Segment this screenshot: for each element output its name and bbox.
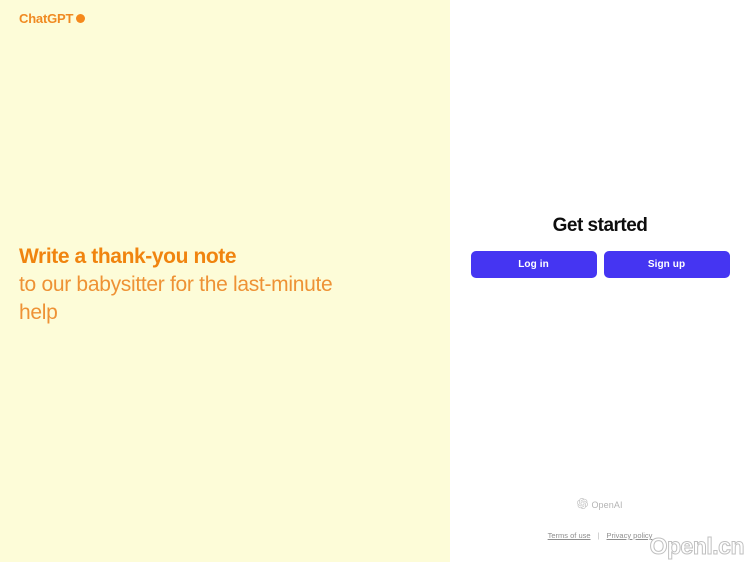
terms-of-use-link[interactable]: Terms of use: [548, 531, 591, 540]
auth-panel: Get started Log in Sign up OpenAI Terms …: [450, 0, 750, 562]
chatgpt-wordmark: ChatGPT: [19, 11, 73, 26]
promo-line-1: Write a thank-you note: [19, 243, 419, 271]
openai-wordmark: OpenAI: [591, 500, 622, 510]
filled-circle-icon: [76, 14, 85, 23]
promo-line-2: to our babysitter for the last-minute: [19, 271, 419, 299]
promo-line-3: help: [19, 299, 419, 327]
get-started-block: Get started Log in Sign up: [450, 215, 750, 278]
footer-separator: |: [598, 531, 600, 540]
login-button[interactable]: Log in: [471, 251, 597, 278]
promo-panel: ChatGPT Write a thank-you note to our ba…: [0, 0, 450, 562]
promo-text-block: Write a thank-you note to our babysitter…: [19, 243, 419, 327]
signup-button[interactable]: Sign up: [604, 251, 730, 278]
auth-button-group: Log in Sign up: [471, 251, 730, 278]
privacy-policy-link[interactable]: Privacy policy: [607, 531, 653, 540]
page-title: Get started: [553, 215, 648, 237]
chatgpt-brand-logo: ChatGPT: [19, 11, 85, 26]
openai-brand: OpenAI: [577, 496, 622, 514]
chatgpt-login-page: ChatGPT Write a thank-you note to our ba…: [0, 0, 750, 562]
footer-links: Terms of use | Privacy policy: [548, 531, 653, 540]
footer: OpenAI Terms of use | Privacy policy: [450, 496, 750, 540]
openai-blossom-icon: [577, 496, 588, 514]
